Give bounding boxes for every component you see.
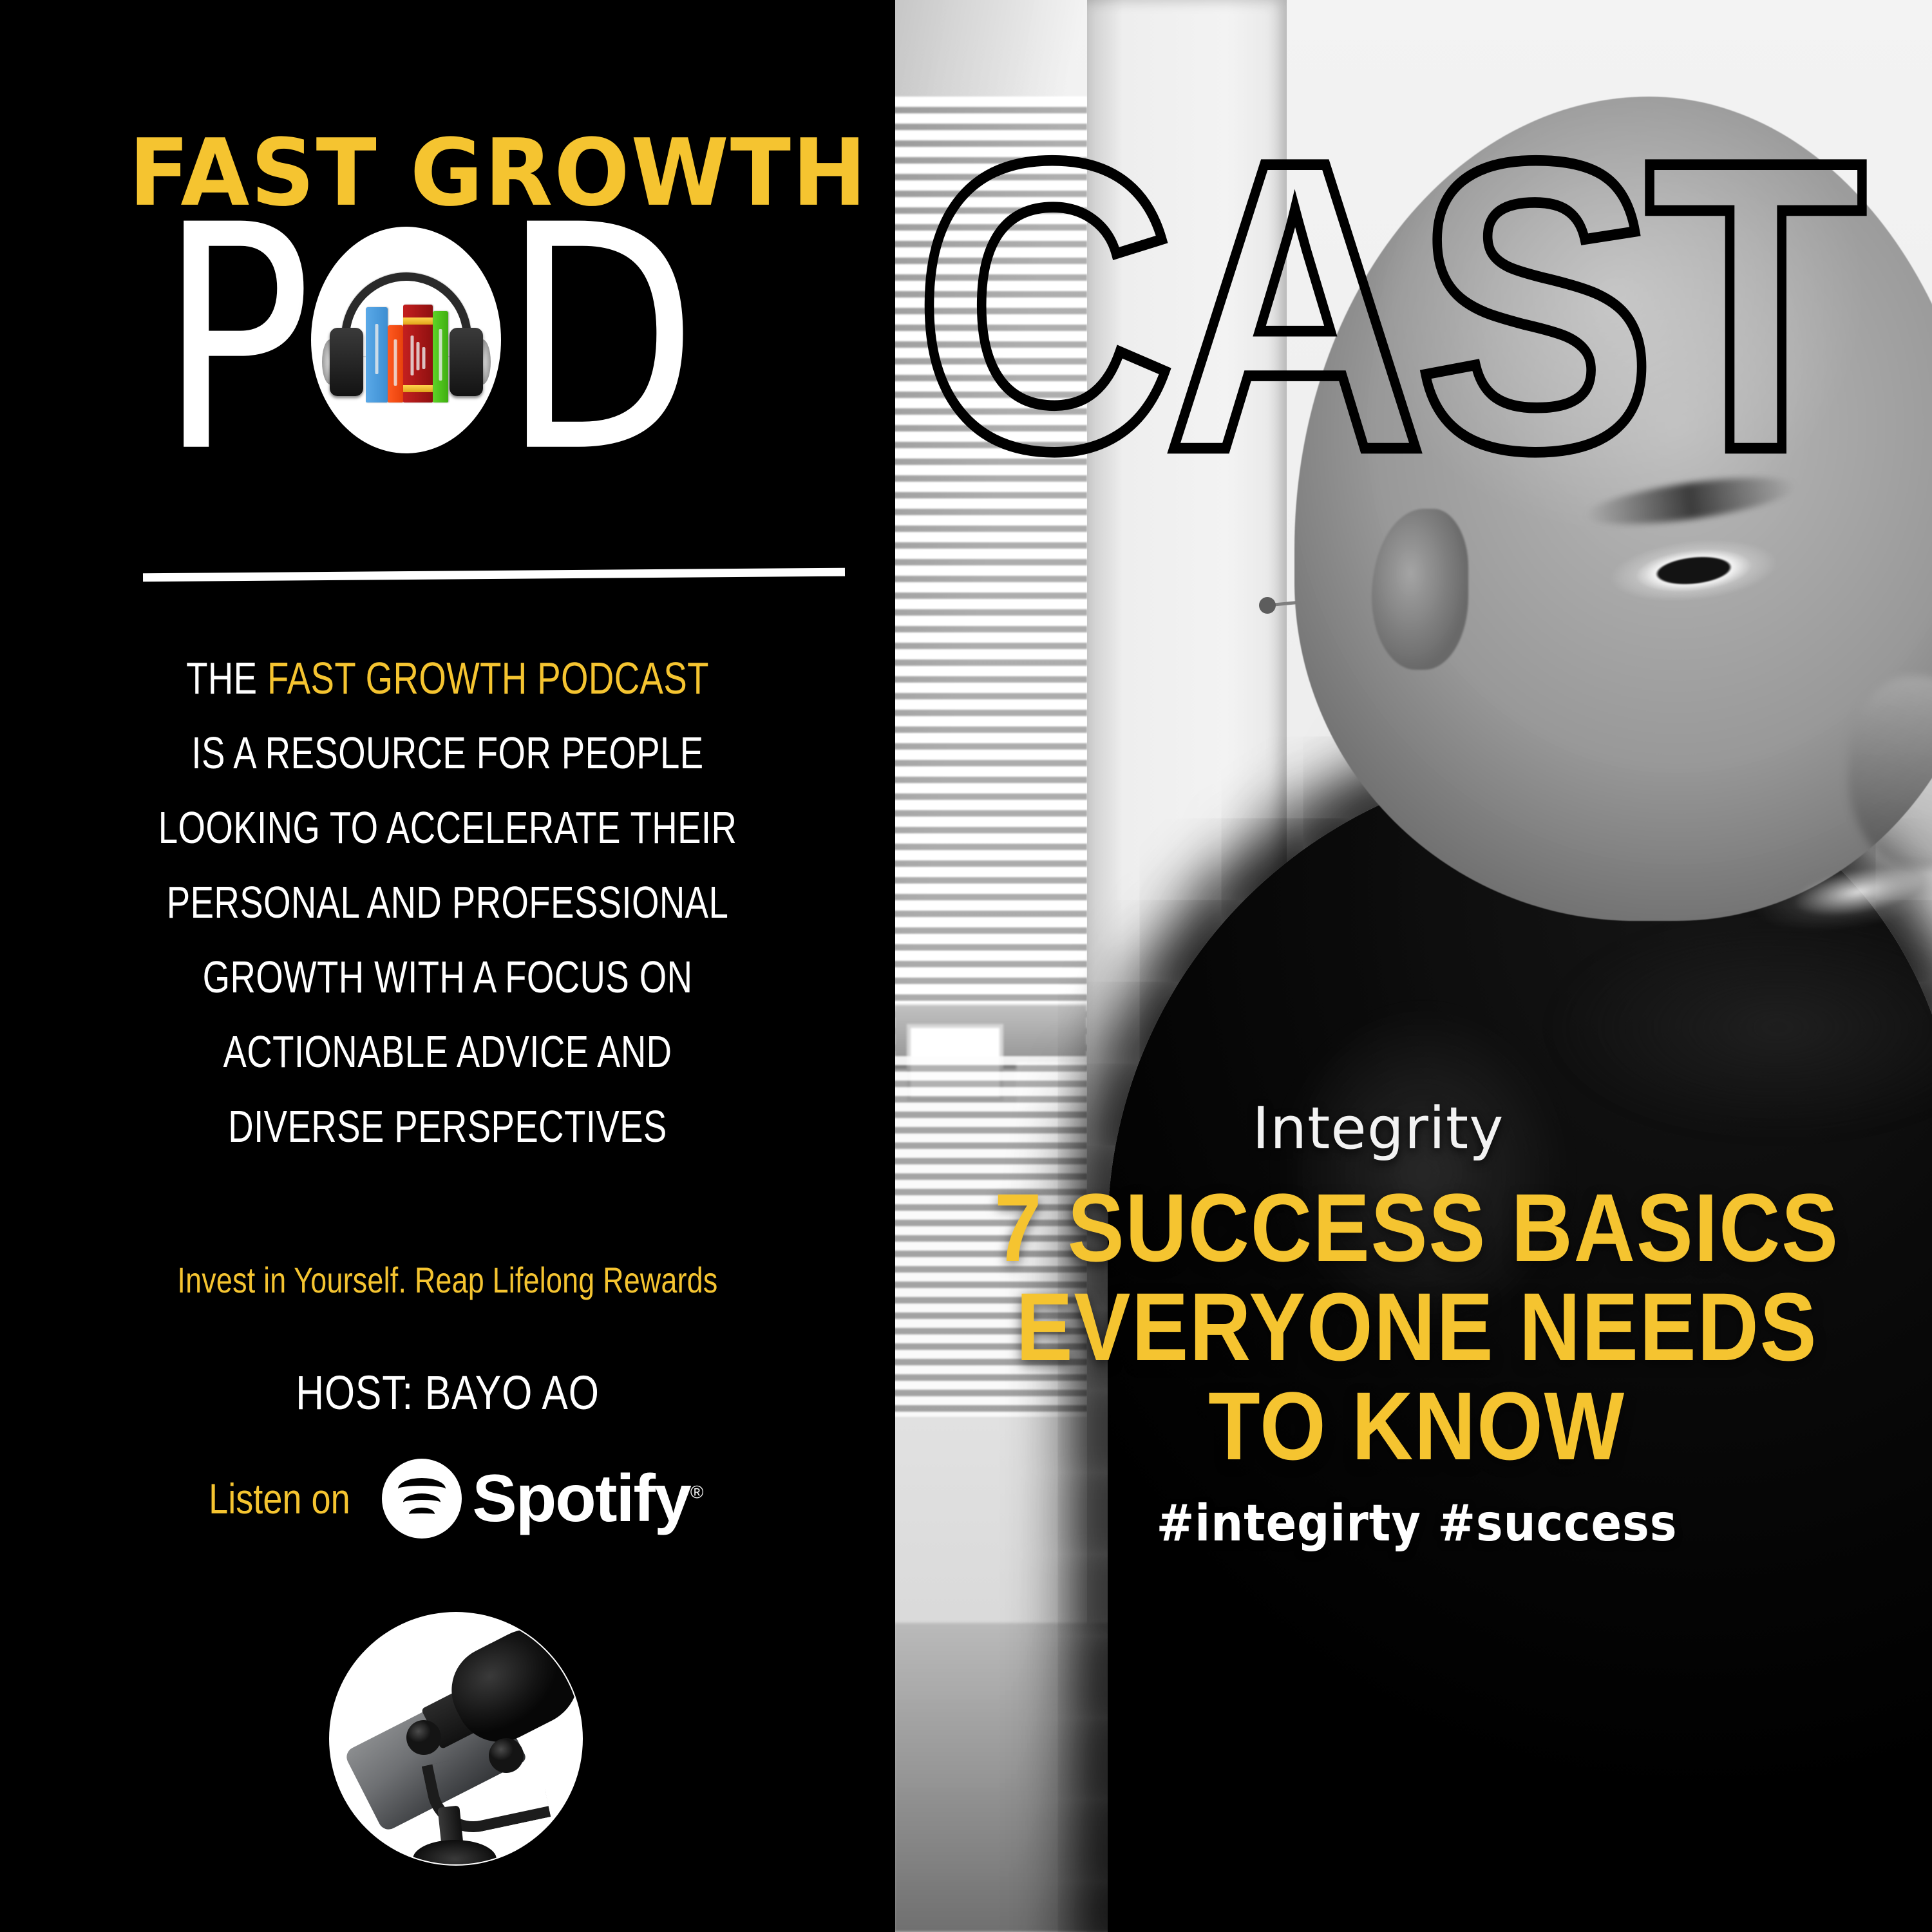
microphone-knob-left (406, 1720, 441, 1755)
pod-letter-d: D (502, 221, 699, 459)
episode-hashtags: #integirty #success (953, 1495, 1880, 1553)
episode-info: Integrity 7 SUCCESS BASICS EVERYONE NEED… (902, 1095, 1932, 1553)
book-red (403, 305, 433, 402)
episode-topic: Integrity (824, 1095, 1932, 1162)
podcast-description: THE FAST GROWTH PODCAST IS A RESOURCE FO… (149, 641, 746, 1164)
description-line-7: DIVERSE PERSPECTIVES (149, 1089, 746, 1164)
host-credit: HOST: BAYO AO (133, 1365, 762, 1420)
episode-title-line-3: TO KNOW (963, 1376, 1870, 1475)
tagline: Invest in Yourself. Reap Lifelong Reward… (141, 1259, 754, 1301)
listen-on-label: Listen on (209, 1474, 350, 1523)
description-line-2: IS A RESOURCE FOR PEOPLE (149, 715, 746, 790)
pod-letter-p: P (158, 221, 312, 459)
listen-on-spotify-badge[interactable]: Listen on Spotify® (0, 1459, 895, 1539)
description-line-1: THE FAST GROWTH PODCAST (149, 641, 746, 715)
headphone-cup-right (450, 328, 483, 396)
episode-title: 7 SUCCESS BASICS EVERYONE NEEDS TO KNOW (963, 1178, 1870, 1475)
book-blue (366, 307, 388, 402)
episode-title-line-1: 7 SUCCESS BASICS (963, 1178, 1870, 1277)
episode-title-line-2: EVERYONE NEEDS (963, 1277, 1870, 1376)
host-eye (1607, 533, 1780, 609)
studio-microphone-icon (330, 1613, 582, 1864)
host-nose (1848, 676, 1932, 869)
book-green (433, 311, 448, 402)
headphones-icon (326, 272, 487, 408)
microphone-base (413, 1840, 497, 1864)
podcast-cover: CAST FAST GROWTH P (0, 0, 1932, 1932)
headphones-books-icon (311, 227, 501, 453)
pod-logo: P (152, 224, 706, 456)
divider-line (143, 568, 845, 582)
description-highlight: FAST GROWTH PODCAST (267, 653, 709, 703)
books-icon (366, 306, 448, 402)
description-line-3: LOOKING TO ACCELERATE THEIR (149, 790, 746, 865)
description-line-4: PERSONAL AND PROFESSIONAL (149, 865, 746, 940)
cast-wordmark: CAST (914, 145, 1856, 466)
description-prefix: THE (186, 653, 267, 703)
info-panel: FAST GROWTH P (0, 0, 895, 1932)
spotify-wordmark: Spotify® (472, 1461, 702, 1537)
book-orange (388, 325, 403, 402)
spotify-logo[interactable]: Spotify® (382, 1459, 702, 1539)
headphone-cup-left (330, 328, 363, 396)
registered-trademark-icon: ® (690, 1482, 703, 1502)
description-line-6: ACTIONABLE ADVICE AND (149, 1014, 746, 1089)
spotify-icon (382, 1459, 462, 1539)
description-line-5: GROWTH WITH A FOCUS ON (149, 940, 746, 1014)
